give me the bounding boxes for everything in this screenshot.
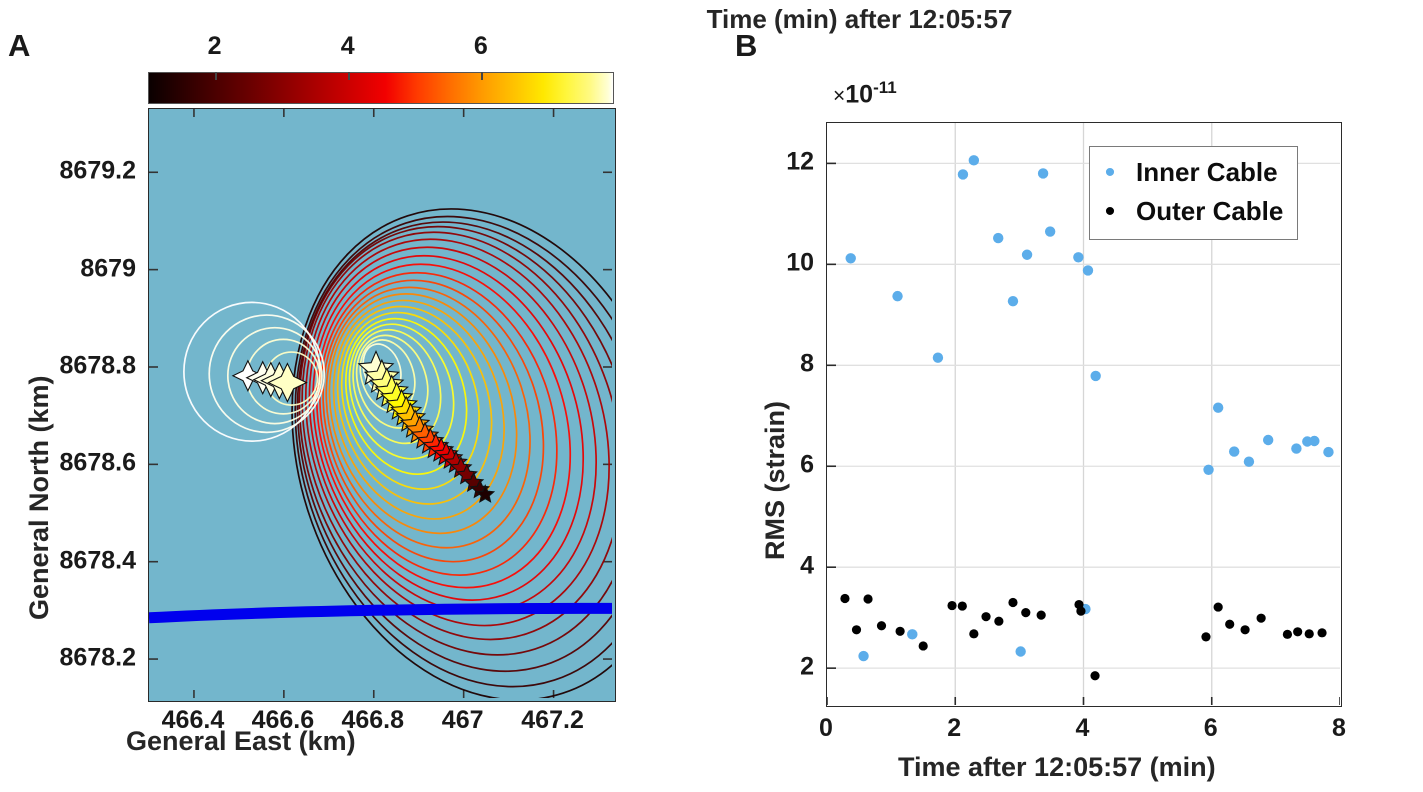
panel-b-xtick-label: 0	[819, 714, 833, 743]
panel-b-ytick-label: 2	[760, 653, 814, 682]
data-point	[947, 601, 956, 610]
data-point	[1229, 446, 1239, 456]
colorbar-tick-label: 2	[208, 32, 222, 61]
panel-a-plot-svg	[149, 109, 612, 698]
figure-root: A B Time (min) after 12:05:57 246 8679.2…	[0, 0, 1423, 792]
data-point	[1015, 646, 1025, 656]
panel-b-xtick-label: 2	[947, 714, 961, 743]
panel-a-xtick-label: 467	[442, 706, 484, 735]
data-point	[1076, 607, 1085, 616]
colorbar-tick	[215, 72, 217, 80]
colorbar-tick	[481, 72, 483, 80]
data-point	[958, 169, 968, 179]
panel-a-label: A	[8, 28, 30, 64]
panel-a-map	[148, 108, 616, 702]
data-point	[1090, 371, 1100, 381]
data-point	[1244, 457, 1254, 467]
panel-a-ytick-label: 8678.4	[0, 546, 136, 575]
data-point	[1257, 614, 1266, 623]
legend-item-inner-cable: • Inner Cable	[1098, 153, 1283, 192]
data-point	[840, 594, 849, 603]
data-point	[1008, 296, 1018, 306]
data-point	[1008, 598, 1017, 607]
panel-a-ytick-label: 8678.8	[0, 351, 136, 380]
data-point	[1073, 252, 1083, 262]
data-point	[1045, 226, 1055, 236]
fiber-optic-cable	[149, 608, 612, 617]
data-point	[1240, 625, 1249, 634]
panel-a-xtick-label: 467.2	[521, 706, 584, 735]
colorbar-tick	[348, 72, 350, 80]
panel-a-ytick-label: 8679	[0, 254, 136, 283]
data-point	[1214, 602, 1223, 611]
data-point	[896, 627, 905, 636]
data-point	[933, 353, 943, 363]
data-point	[1090, 671, 1099, 680]
data-point	[1309, 436, 1319, 446]
data-point	[1083, 265, 1093, 275]
data-point	[969, 155, 979, 165]
legend-marker-dot-icon: •	[1098, 197, 1122, 227]
data-point	[907, 629, 917, 639]
colorbar-title: Time (min) after 12:05:57	[148, 4, 1423, 35]
legend-item-outer-cable: • Outer Cable	[1098, 192, 1283, 231]
data-point	[1201, 632, 1210, 641]
panel-a-ytick-label: 8678.6	[0, 449, 136, 478]
panel-b-ytick-label: 8	[760, 350, 814, 379]
multiplication-sign: ×	[833, 84, 845, 107]
panel-a-ytick-label: 8679.2	[0, 157, 136, 186]
panel-a-xaxis-title: General East (km)	[126, 726, 356, 757]
data-point	[1022, 250, 1032, 260]
panel-b-yaxis-title: RMS (strain)	[760, 401, 791, 560]
panel-a-yaxis-title: General North (km)	[24, 375, 55, 620]
panel-b-ytick-label: 10	[760, 249, 814, 278]
data-point	[1283, 630, 1292, 639]
data-point	[1037, 611, 1046, 620]
data-point	[1225, 620, 1234, 629]
data-point	[1263, 435, 1273, 445]
data-point	[1291, 443, 1301, 453]
panel-b-xtick-label: 4	[1076, 714, 1090, 743]
data-point	[858, 651, 868, 661]
data-point	[852, 625, 861, 634]
panel-b-exponent-label: ×10-11	[833, 78, 897, 109]
panel-b-legend: • Inner Cable • Outer Cable	[1089, 146, 1298, 240]
panel-b-xaxis-title: Time after 12:05:57 (min)	[898, 752, 1216, 783]
data-point	[877, 621, 886, 630]
panel-b-xtick-label: 8	[1332, 714, 1346, 743]
exponent-base: 10	[845, 80, 873, 108]
data-point	[1293, 627, 1302, 636]
data-point	[863, 594, 872, 603]
data-point	[981, 612, 990, 621]
data-point	[1021, 608, 1030, 617]
colorbar-ticks	[148, 72, 614, 104]
data-point	[994, 617, 1003, 626]
data-point	[1305, 629, 1314, 638]
data-point	[1038, 168, 1048, 178]
data-point	[1323, 447, 1333, 457]
colorbar	[148, 72, 614, 104]
panel-b-xtick-label: 6	[1204, 714, 1218, 743]
data-point	[969, 629, 978, 638]
colorbar-tick-label: 6	[474, 32, 488, 61]
exponent-power: -11	[873, 78, 897, 97]
panel-b-ytick-label: 12	[760, 148, 814, 177]
data-point	[1317, 628, 1326, 637]
legend-label: Inner Cable	[1136, 157, 1278, 188]
colorbar-tick-label: 4	[341, 32, 355, 61]
data-point	[919, 641, 928, 650]
legend-marker-dot-icon: •	[1098, 158, 1122, 188]
panel-a-ytick-label: 8678.2	[0, 644, 136, 673]
data-point	[1203, 465, 1213, 475]
data-point	[993, 233, 1003, 243]
legend-label: Outer Cable	[1136, 196, 1283, 227]
data-point	[846, 253, 856, 263]
data-point	[892, 291, 902, 301]
data-point	[958, 601, 967, 610]
data-point	[1213, 402, 1223, 412]
